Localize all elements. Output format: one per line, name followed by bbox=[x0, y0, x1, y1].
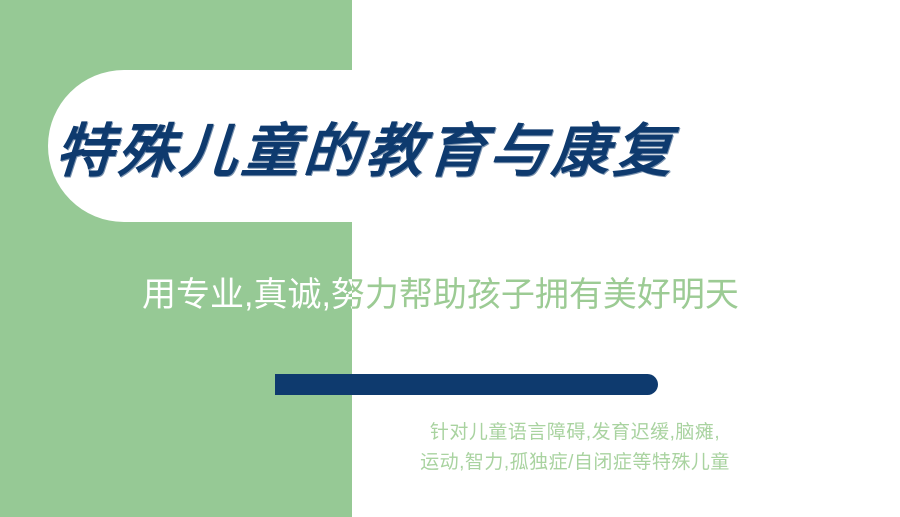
description-block: 针对儿童语言障碍,发育迟缓,脑瘫, 运动,智力,孤独症/自闭症等特殊儿童 bbox=[380, 418, 770, 478]
slide-canvas: 特殊儿童的教育与康复 用专业,真诚,努力帮助孩子拥有美好明天 用专业,真诚,努力… bbox=[0, 0, 900, 517]
page-title: 特殊儿童的教育与康复 bbox=[53, 103, 699, 189]
description-line-1: 针对儿童语言障碍,发育迟缓,脑瘫, bbox=[380, 418, 770, 448]
subtitle-group: 用专业,真诚,努力帮助孩子拥有美好明天 用专业,真诚,努力帮助孩子拥有美好明天 bbox=[142, 272, 802, 318]
description-line-2: 运动,智力,孤独症/自闭症等特殊儿童 bbox=[380, 448, 770, 478]
navy-rounded-bar bbox=[275, 374, 658, 395]
